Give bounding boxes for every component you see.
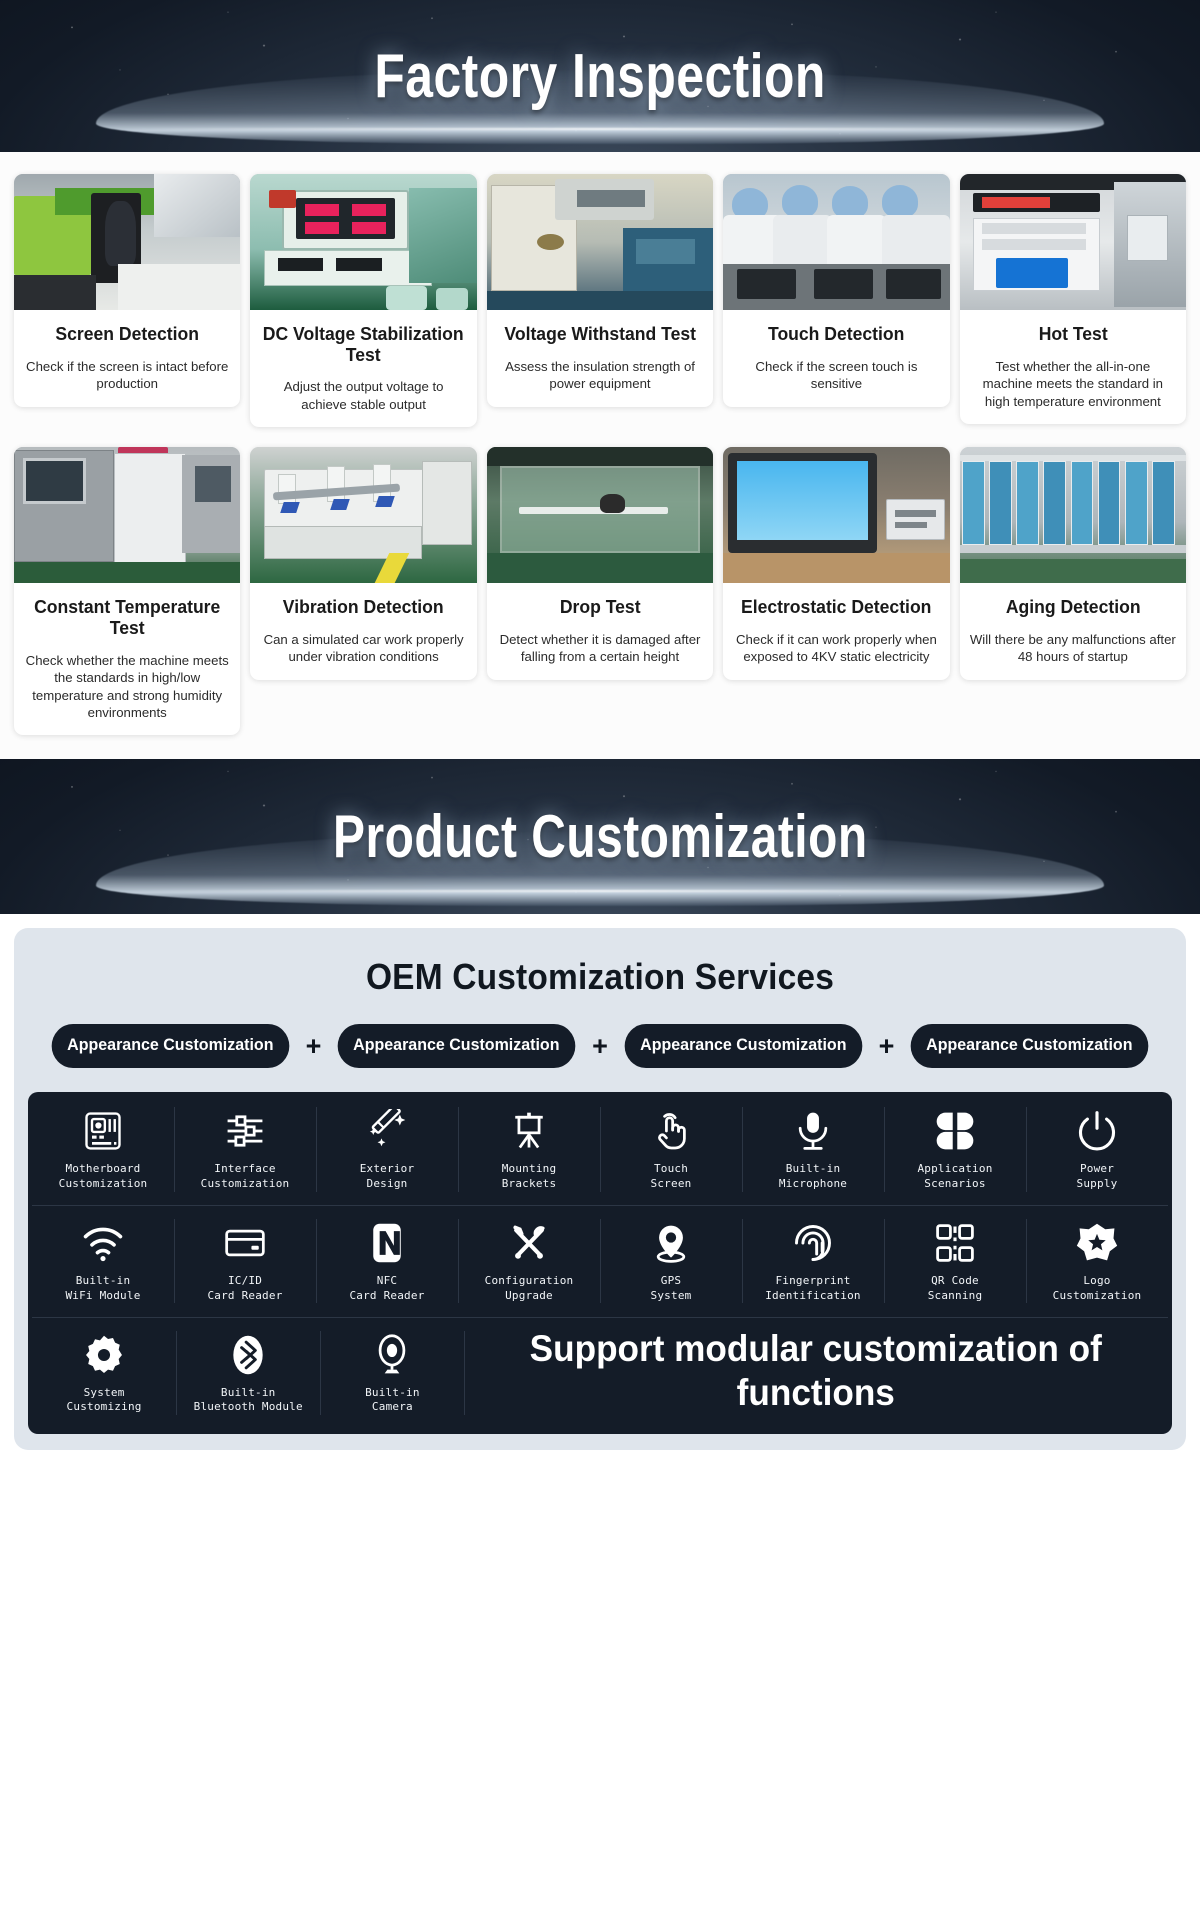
bluetooth-icon: [226, 1333, 270, 1377]
card-title: Touch Detection: [729, 310, 944, 345]
inspection-card[interactable]: Drop Test Detect whether it is damaged a…: [487, 447, 713, 680]
motherboard-icon: [81, 1109, 125, 1153]
voltage-withstand-photo: [487, 174, 713, 310]
plus-separator-icon: +: [866, 1033, 908, 1060]
feature-label: Configuration Upgrade: [485, 1274, 574, 1304]
feature-cell-system-customizing[interactable]: System Customizing: [32, 1318, 176, 1429]
inspection-cards-section: Screen Detection Check if the screen is …: [0, 152, 1200, 759]
sliders-icon: [223, 1109, 267, 1153]
inspection-card[interactable]: Electrostatic Detection Check if it can …: [723, 447, 949, 680]
inspection-card-row-1: Screen Detection Check if the screen is …: [8, 174, 1192, 427]
power-icon: [1075, 1109, 1119, 1153]
microphone-icon: [791, 1109, 835, 1153]
feature-cell-logo[interactable]: Logo Customization: [1026, 1206, 1168, 1317]
feature-cell-ic-id-card[interactable]: IC/ID Card Reader: [174, 1206, 316, 1317]
card-icon: [223, 1221, 267, 1265]
feature-label: Application Scenarios: [917, 1162, 992, 1192]
feature-label: Exterior Design: [360, 1162, 415, 1192]
appearance-pill[interactable]: Appearance Customization: [52, 1024, 289, 1068]
feature-label: System Customizing: [67, 1386, 142, 1416]
four-petal-icon: [933, 1109, 977, 1153]
fingerprint-icon: [791, 1221, 835, 1265]
feature-cell-application-scenarios[interactable]: Application Scenarios: [884, 1094, 1026, 1205]
feature-cell-qr-code[interactable]: QR Code Scanning: [884, 1206, 1026, 1317]
location-pin-icon: [649, 1221, 693, 1265]
feature-label: Power Supply: [1077, 1162, 1118, 1192]
feature-cell-wifi[interactable]: Built-in WiFi Module: [32, 1206, 174, 1317]
appearance-pill[interactable]: Appearance Customization: [625, 1024, 862, 1068]
card-title: Electrostatic Detection: [729, 583, 944, 618]
magic-wand-icon: [365, 1109, 409, 1153]
feature-cell-mounting[interactable]: Mounting Brackets: [458, 1094, 600, 1205]
feature-label: NFC Card Reader: [349, 1274, 424, 1304]
inspection-card[interactable]: Touch Detection Check if the screen touc…: [723, 174, 949, 407]
card-title: Vibration Detection: [256, 583, 471, 618]
feature-cell-motherboard[interactable]: Motherboard Customization: [32, 1094, 174, 1205]
constant-temperature-photo: [14, 447, 240, 583]
drop-test-photo: [487, 447, 713, 583]
tools-icon: [507, 1221, 551, 1265]
qr-code-icon: [933, 1221, 977, 1265]
appearance-pill[interactable]: Appearance Customization: [338, 1024, 575, 1068]
card-title: Aging Detection: [965, 583, 1180, 618]
inspection-card[interactable]: Voltage Withstand Test Assess the insula…: [487, 174, 713, 407]
easel-icon: [507, 1109, 551, 1153]
dc-voltage-photo: [250, 174, 476, 310]
feature-label: IC/ID Card Reader: [207, 1274, 282, 1304]
inspection-card[interactable]: DC Voltage Stabilization Test Adjust the…: [250, 174, 476, 427]
feature-icon-row-3: System Customizing Built-in Bluetooth Mo…: [32, 1317, 1168, 1429]
feature-label: Fingerprint Identification: [765, 1274, 861, 1304]
card-description: Adjust the output voltage to achieve sta…: [250, 365, 476, 417]
feature-cell-interface[interactable]: Interface Customization: [174, 1094, 316, 1205]
inspection-card[interactable]: Aging Detection Will there be any malfun…: [960, 447, 1186, 680]
feature-icon-row-1: Motherboard Customization Interfa: [32, 1094, 1168, 1205]
feature-label: Touch Screen: [651, 1162, 692, 1192]
modular-slogan: Support modular customization of functio…: [492, 1327, 1141, 1416]
touch-hand-icon: [649, 1109, 693, 1153]
card-description: Check if the screen is intact before pro…: [14, 345, 240, 397]
feature-label: Built-in Camera: [365, 1386, 420, 1416]
feature-label: Built-in WiFi Module: [65, 1274, 140, 1304]
feature-label: Logo Customization: [1053, 1274, 1142, 1304]
touch-detection-photo: [723, 174, 949, 310]
feature-label: QR Code Scanning: [928, 1274, 983, 1304]
feature-label: Built-in Microphone: [779, 1162, 847, 1192]
appearance-pill[interactable]: Appearance Customization: [911, 1024, 1148, 1068]
feature-cell-microphone[interactable]: Built-in Microphone: [742, 1094, 884, 1205]
gear-icon: [82, 1333, 126, 1377]
card-description: Will there be any malfunctions after 48 …: [960, 618, 1186, 670]
screen-detection-photo: [14, 174, 240, 310]
inspection-card[interactable]: Hot Test Test whether the all-in-one mac…: [960, 174, 1186, 424]
inspection-card[interactable]: Vibration Detection Can a simulated car …: [250, 447, 476, 680]
feature-label: GPS System: [651, 1274, 692, 1304]
logo-star-icon: [1075, 1221, 1119, 1265]
card-description: Detect whether it is damaged after falli…: [487, 618, 713, 670]
feature-cell-touch-screen[interactable]: Touch Screen: [600, 1094, 742, 1205]
feature-cell-power-supply[interactable]: Power Supply: [1026, 1094, 1168, 1205]
oem-panel: OEM Customization Services Appearance Cu…: [14, 928, 1186, 1450]
card-description: Check whether the machine meets the stan…: [14, 639, 240, 726]
inspection-card[interactable]: Screen Detection Check if the screen is …: [14, 174, 240, 407]
feature-cell-configuration[interactable]: Configuration Upgrade: [458, 1206, 600, 1317]
feature-label: Motherboard Customization: [59, 1162, 148, 1192]
plus-separator-icon: +: [293, 1033, 335, 1060]
feature-cell-fingerprint[interactable]: Fingerprint Identification: [742, 1206, 884, 1317]
banner-title-product-customization: Product Customization: [333, 802, 868, 872]
hot-test-photo: [960, 174, 1186, 310]
card-title: DC Voltage Stabilization Test: [256, 310, 471, 365]
product-customization-banner: Product Customization: [0, 759, 1200, 914]
factory-inspection-banner: Factory Inspection: [0, 0, 1200, 152]
appearance-pill-row: Appearance Customization + Appearance Cu…: [28, 1024, 1172, 1068]
card-title: Screen Detection: [20, 310, 235, 345]
oem-section: OEM Customization Services Appearance Cu…: [0, 914, 1200, 1468]
feature-cell-camera[interactable]: Built-in Camera: [320, 1318, 464, 1429]
plus-separator-icon: +: [579, 1033, 621, 1060]
card-title: Hot Test: [965, 310, 1180, 345]
inspection-card-row-2: Constant Temperature Test Check whether …: [8, 447, 1192, 735]
feature-label: Mounting Brackets: [502, 1162, 557, 1192]
card-title: Voltage Withstand Test: [492, 310, 707, 345]
feature-cell-exterior[interactable]: Exterior Design: [316, 1094, 458, 1205]
card-description: Check if it can work properly when expos…: [723, 618, 949, 670]
electrostatic-photo: [723, 447, 949, 583]
camera-icon: [370, 1333, 414, 1377]
feature-icon-grid: Motherboard Customization Interfa: [28, 1092, 1172, 1434]
feature-label: Interface Customization: [201, 1162, 290, 1192]
feature-label: Built-in Bluetooth Module: [194, 1386, 303, 1416]
vibration-photo: [250, 447, 476, 583]
nfc-icon: [365, 1221, 409, 1265]
wifi-icon: [81, 1221, 125, 1265]
feature-cell-nfc[interactable]: NFC Card Reader: [316, 1206, 458, 1317]
card-title: Constant Temperature Test: [20, 583, 235, 638]
card-title: Drop Test: [492, 583, 707, 618]
oem-title: OEM Customization Services: [68, 956, 1132, 998]
card-description: Assess the insulation strength of power …: [487, 345, 713, 397]
feature-icon-row-2: Built-in WiFi Module IC/ID Card Reader: [32, 1205, 1168, 1317]
inspection-card[interactable]: Constant Temperature Test Check whether …: [14, 447, 240, 735]
banner-title-factory-inspection: Factory Inspection: [374, 40, 825, 112]
feature-cell-gps[interactable]: GPS System: [600, 1206, 742, 1317]
card-description: Test whether the all-in-one machine meet…: [960, 345, 1186, 414]
aging-detection-photo: [960, 447, 1186, 583]
card-description: Check if the screen touch is sensitive: [723, 345, 949, 397]
modular-slogan-cell: Support modular customization of functio…: [464, 1318, 1168, 1429]
card-description: Can a simulated car work properly under …: [250, 618, 476, 670]
feature-cell-bluetooth[interactable]: Built-in Bluetooth Module: [176, 1318, 320, 1429]
